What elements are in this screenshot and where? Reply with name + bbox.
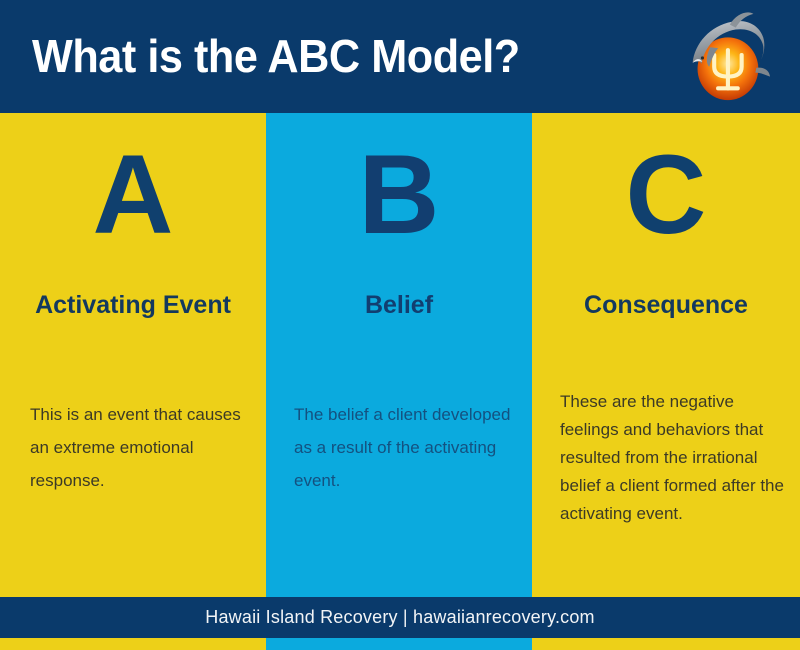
abc-model-infographic: A Activating Event This is an event that… [0, 0, 800, 650]
page-title: What is the ABC Model? [32, 28, 520, 84]
columns-container: A Activating Event This is an event that… [0, 113, 800, 650]
footer-band: Hawaii Island Recovery | hawaiianrecover… [0, 597, 800, 638]
column-letter-a: A [0, 139, 266, 251]
footer-attribution: Hawaii Island Recovery | hawaiianrecover… [205, 607, 595, 628]
column-belief: B Belief The belief a client developed a… [266, 113, 532, 650]
column-body-b: The belief a client developed as a resul… [294, 398, 518, 497]
column-heading-b: Belief [280, 286, 518, 324]
column-body-c: These are the negative feelings and beha… [560, 388, 784, 528]
column-letter-c: C [532, 139, 800, 251]
dolphin-sun-psi-logo-icon [675, 8, 773, 106]
column-letter-b: B [266, 139, 532, 251]
column-activating-event: A Activating Event This is an event that… [0, 113, 266, 650]
header-band: What is the ABC Model? [0, 0, 800, 113]
column-heading-a: Activating Event [14, 286, 252, 324]
column-heading-c: Consequence [546, 286, 786, 324]
column-body-a: This is an event that causes an extreme … [30, 398, 242, 497]
column-consequence: C Consequence These are the negative fee… [532, 113, 800, 650]
